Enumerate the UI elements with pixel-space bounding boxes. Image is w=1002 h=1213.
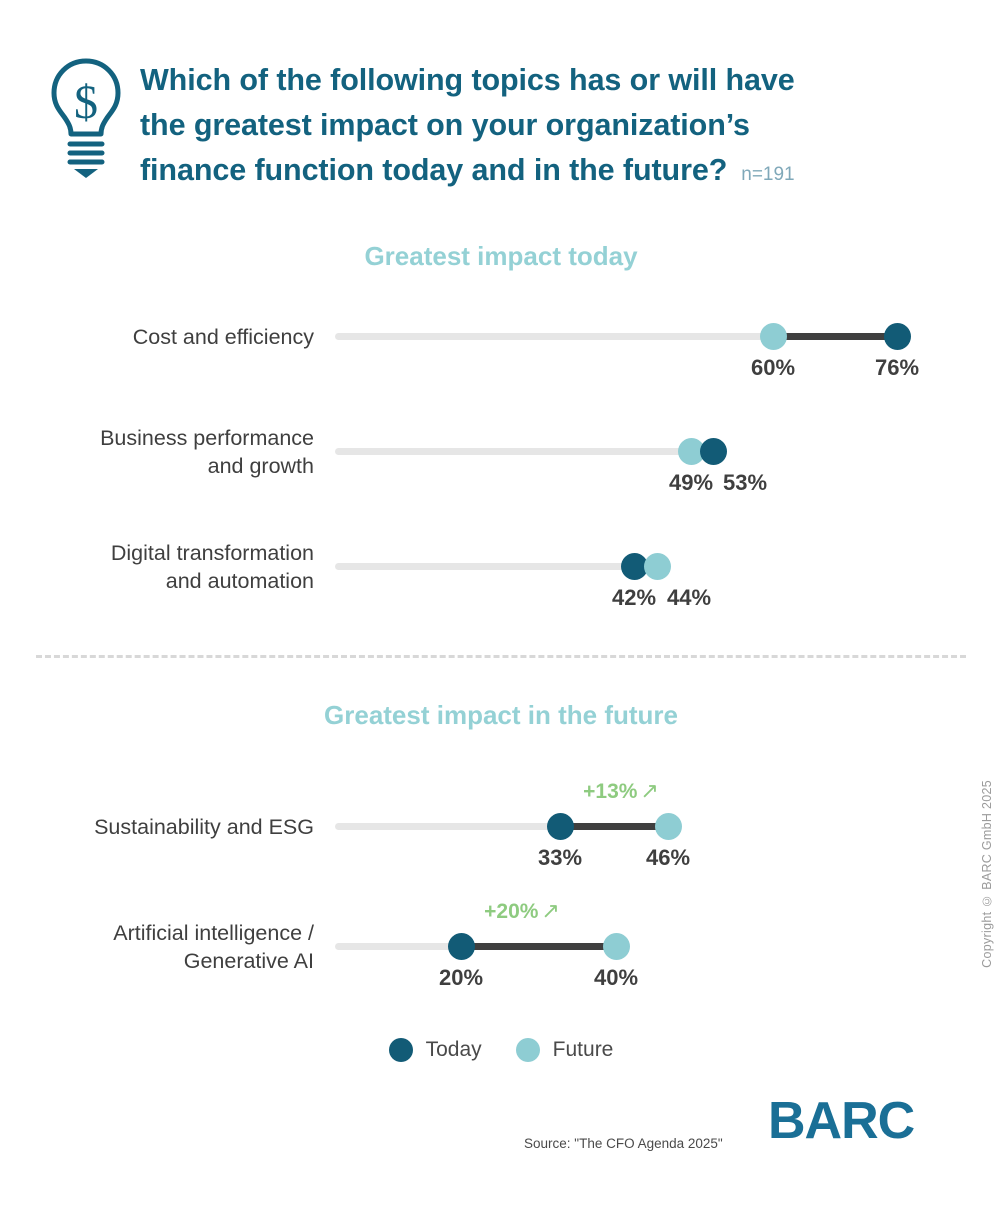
chart-legend: Today Future [0, 1038, 1002, 1062]
legend-dot-future-icon [516, 1038, 540, 1062]
row-connector [780, 333, 895, 340]
value-today: 20% [416, 965, 506, 991]
svg-text:$: $ [74, 76, 98, 129]
dot-future [760, 323, 787, 350]
title-line-3-text: finance function today and in the future… [140, 153, 727, 187]
row-track [335, 448, 703, 455]
delta-value: +13% [583, 780, 637, 803]
source-note: Source: "The CFO Agenda 2025" [524, 1136, 723, 1151]
row-track [335, 333, 785, 340]
chart-row-artificial-intelligence-generative-ai: Artificial intelligence / Generative AI … [0, 910, 1002, 1020]
legend-item-future: Future [516, 1038, 614, 1062]
dot-today [700, 438, 727, 465]
row-label-line: Digital transformation [40, 539, 314, 567]
delta-value: +20% [484, 900, 538, 923]
dot-future [603, 933, 630, 960]
chart-row-business-performance-and-growth: Business performance and growth 49% 53% [0, 415, 1002, 525]
row-label: Cost and efficiency [40, 323, 314, 351]
row-connector [463, 943, 618, 950]
value-today: 33% [515, 845, 605, 871]
page-title: Which of the following topics has or wil… [140, 58, 960, 197]
legend-dot-today-icon [389, 1038, 413, 1062]
row-label: Business performance and growth [40, 424, 314, 480]
dot-today [448, 933, 475, 960]
chart-row-sustainability-and-esg: Sustainability and ESG 33% 46% +13%↗ [0, 790, 1002, 900]
chart-row-digital-transformation-and-automation: Digital transformation and automation 42… [0, 530, 1002, 640]
row-label: Sustainability and ESG [40, 813, 314, 841]
legend-item-today: Today [389, 1038, 482, 1062]
svg-text:BARC: BARC [768, 1096, 915, 1148]
value-future: 44% [644, 585, 734, 611]
row-label-line: Generative AI [40, 947, 314, 975]
row-label-line: Artificial intelligence / [40, 919, 314, 947]
dot-future [644, 553, 671, 580]
title-line-2: the greatest impact on your organization… [140, 103, 960, 148]
section-heading-today: Greatest impact today [0, 241, 1002, 272]
row-connector [562, 823, 670, 830]
legend-label-today: Today [426, 1038, 482, 1062]
delta-badge: +13%↗ [546, 778, 696, 804]
value-future: 60% [728, 355, 818, 381]
trend-up-arrow-icon: ↗ [541, 898, 559, 923]
trend-up-arrow-icon: ↗ [640, 778, 658, 803]
delta-badge: +20%↗ [447, 898, 597, 924]
row-track [335, 823, 568, 830]
row-label-line: Sustainability and ESG [40, 813, 314, 841]
row-track [335, 563, 646, 570]
barc-logo: BARC [768, 1096, 933, 1148]
row-label-line: Cost and efficiency [40, 323, 314, 351]
title-line-1: Which of the following topics has or wil… [140, 58, 960, 103]
row-label-line: Business performance [40, 424, 314, 452]
dot-future [655, 813, 682, 840]
sample-size-label: n=191 [741, 164, 794, 185]
value-today: 53% [700, 470, 790, 496]
value-future: 46% [623, 845, 713, 871]
chart-row-cost-and-efficiency: Cost and efficiency 60% 76% [0, 300, 1002, 410]
row-label: Artificial intelligence / Generative AI [40, 919, 314, 975]
title-line-3: finance function today and in the future… [140, 148, 960, 197]
section-divider [36, 655, 966, 658]
value-future: 40% [571, 965, 661, 991]
section-heading-future: Greatest impact in the future [0, 700, 1002, 731]
row-label-line: and growth [40, 452, 314, 480]
copyright-text: Copyright © BARC GmbH 2025 [980, 780, 994, 968]
dot-today [884, 323, 911, 350]
legend-label-future: Future [553, 1038, 614, 1062]
header: $ Which of the following topics has or w… [0, 0, 1002, 212]
dot-today [547, 813, 574, 840]
lightbulb-dollar-icon: $ [48, 56, 124, 180]
value-today: 76% [852, 355, 942, 381]
row-label: Digital transformation and automation [40, 539, 314, 595]
row-label-line: and automation [40, 567, 314, 595]
